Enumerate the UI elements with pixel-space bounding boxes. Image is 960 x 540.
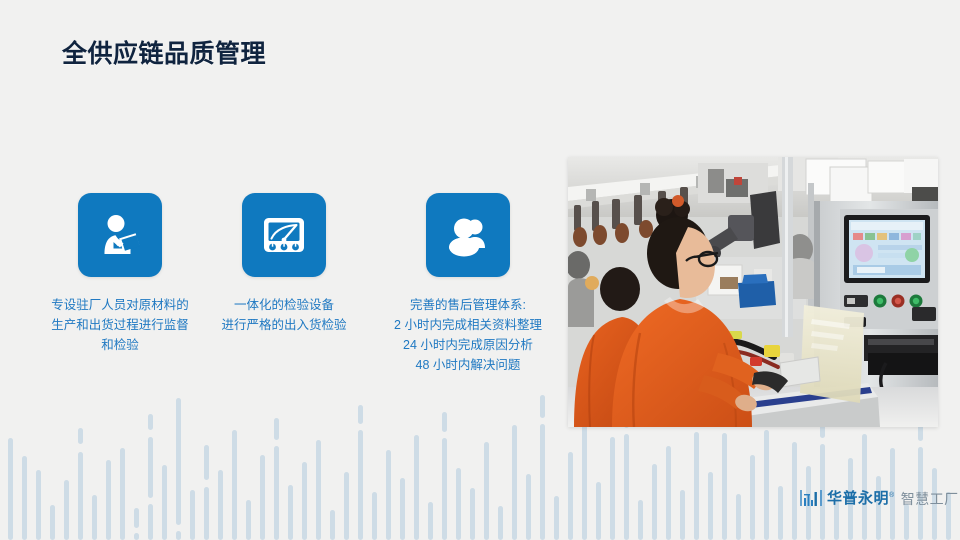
logo-brand-text: 华普永明 [827,490,889,507]
logo-sub-brand: 智慧工厂 [901,491,959,507]
gauge-meter-icon [242,193,326,277]
factory-production-line-photo [568,157,938,427]
two-users-icon [426,193,510,277]
logo-brand: 华普永明® [827,488,895,507]
feature-inspection: 专设驻厂人员对原材料的 生产和出货过程进行监督 和检验 [30,193,210,355]
feature-equipment: 一体化的检验设备 进行严格的出入货检验 [204,193,364,335]
person-with-clipboard-icon [78,193,162,277]
footer-logo: 华普永明® 智慧工厂 [800,488,959,507]
feature-equipment-text: 一体化的检验设备 进行严格的出入货检验 [204,295,364,335]
feature-service: 完善的售后管理体系: 2 小时内完成相关资料整理 24 小时内完成原因分析 48… [378,193,558,375]
page-title: 全供应链品质管理 [62,34,266,70]
feature-service-text: 完善的售后管理体系: 2 小时内完成相关资料整理 24 小时内完成原因分析 48… [378,295,558,375]
factory-bars-logo-icon [800,489,822,507]
slide-canvas: 全供应链品质管理 专设驻厂人员对原材料的 生产和出货过程进行监督 和检验 [0,0,960,540]
feature-inspection-text: 专设驻厂人员对原材料的 生产和出货过程进行监督 和检验 [30,295,210,355]
logo-registered-mark: ® [889,492,895,499]
